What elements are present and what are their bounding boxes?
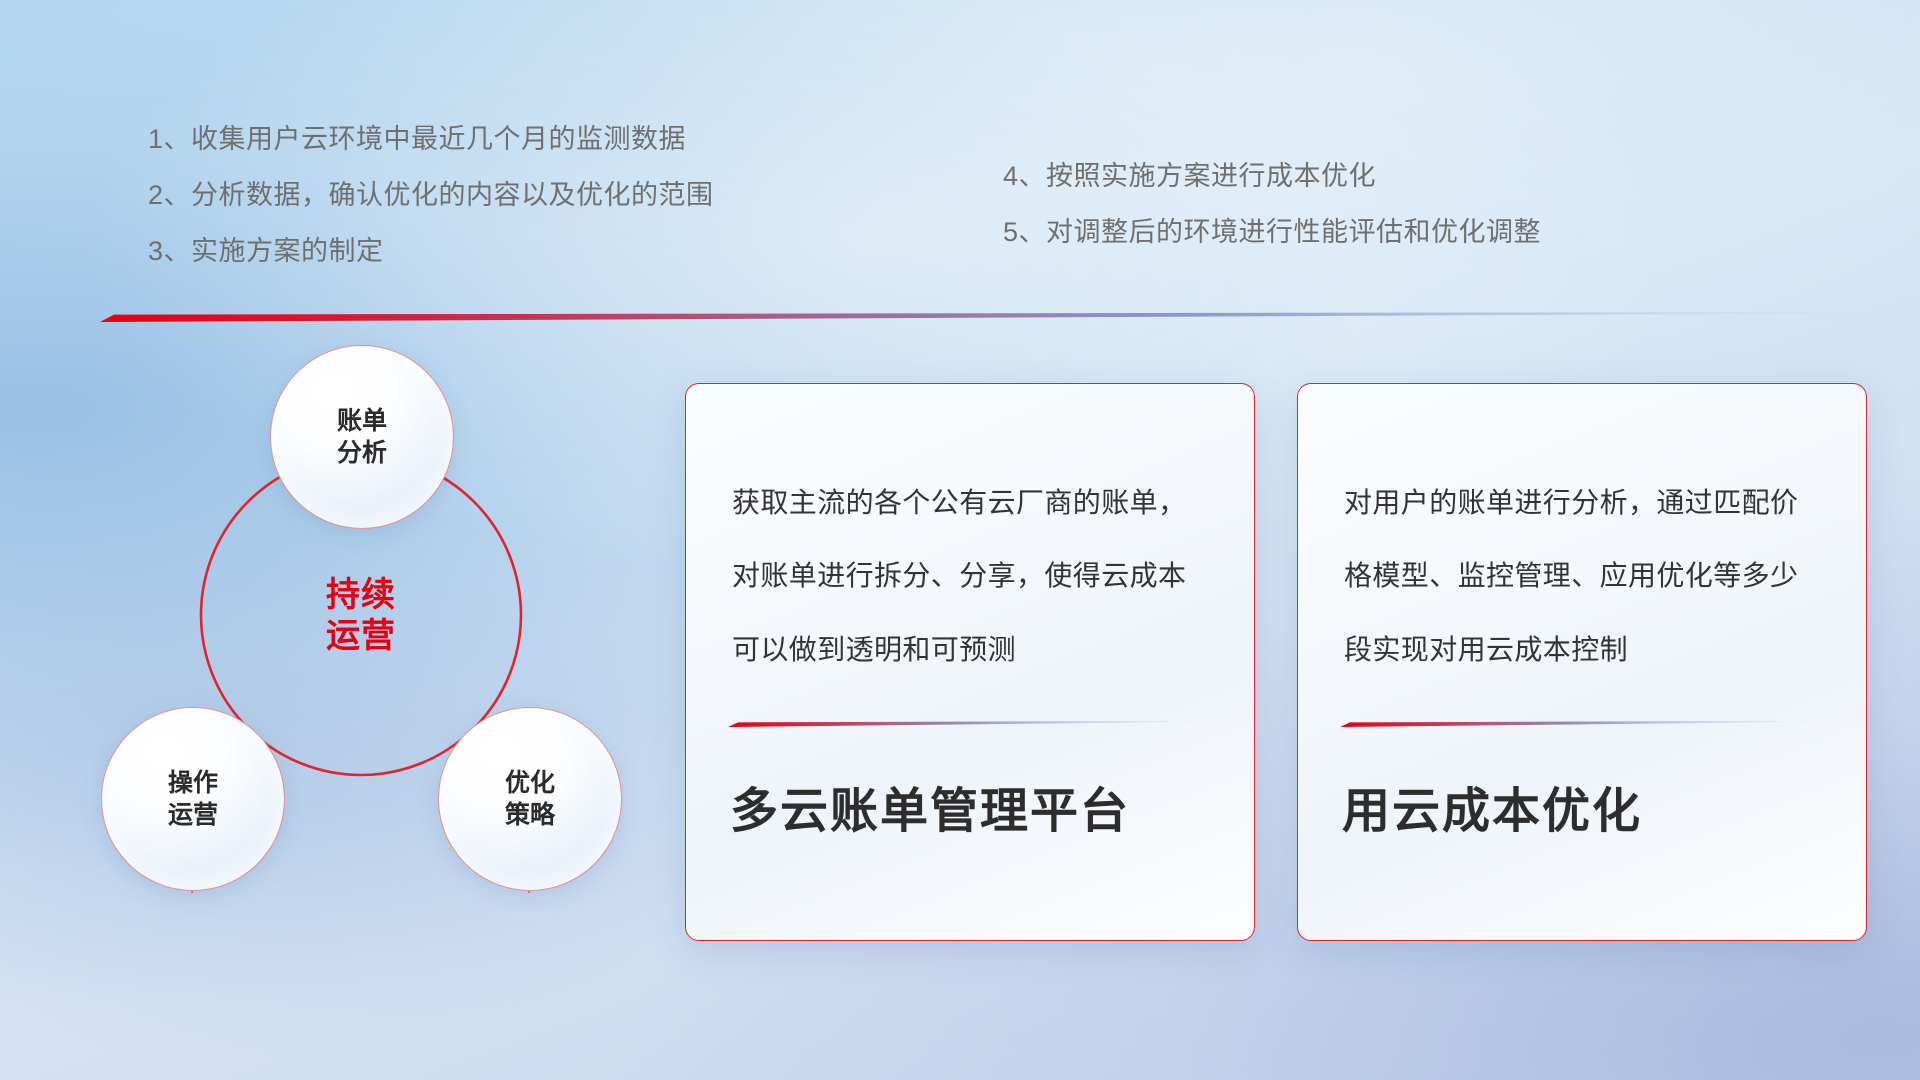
bubble-label-line2: 分析 (337, 439, 387, 467)
steps-list-right: 4、按照实施方案进行成本优化 5、对调整后的环境进行性能评估和优化调整 (1003, 163, 1541, 275)
bubble-label-line1: 操作 (168, 769, 218, 797)
card-divider-rule (728, 720, 1206, 728)
card-title: 多云账单管理平台 (730, 784, 1224, 839)
bubble-label: 账单 分析 (337, 405, 387, 469)
bubble-optimization-strategy[interactable]: 优化 策略 (438, 707, 622, 891)
step-item: 5、对调整后的环境进行性能评估和优化调整 (1003, 219, 1541, 246)
step-item: 3、实施方案的制定 (148, 238, 714, 265)
bubble-label-line2: 策略 (505, 801, 555, 829)
steps-list-left: 1、收集用户云环境中最近几个月的监测数据 2、分析数据，确认优化的内容以及优化的… (148, 126, 714, 294)
cycle-diagram: 账单 分析 操作 运营 优化 策略 持续 运营 (95, 345, 675, 945)
slide-canvas: 1、收集用户云环境中最近几个月的监测数据 2、分析数据，确认优化的内容以及优化的… (0, 0, 1920, 1080)
card-title: 用云成本优化 (1342, 784, 1836, 839)
bubble-label-line1: 账单 (337, 407, 387, 435)
card-divider-rule (1340, 720, 1818, 728)
bubble-label: 优化 策略 (505, 767, 555, 831)
bubble-billing-analysis[interactable]: 账单 分析 (270, 345, 454, 529)
feature-card-multicloud-billing[interactable]: 获取主流的各个公有云厂商的账单，对账单进行拆分、分享，使得云成本可以做到透明和可… (685, 383, 1255, 941)
bubble-label-line2: 运营 (168, 801, 218, 829)
cycle-center-label-line2: 运营 (326, 617, 396, 655)
card-body-text: 获取主流的各个公有云厂商的账单，对账单进行拆分、分享，使得云成本可以做到透明和可… (732, 466, 1214, 686)
bubble-label: 操作 运营 (168, 767, 218, 831)
bubble-label-line1: 优化 (505, 769, 555, 797)
bubble-operations[interactable]: 操作 运营 (101, 707, 285, 891)
card-body-text: 对用户的账单进行分析，通过匹配价格模型、监控管理、应用优化等多少段实现对用云成本… (1344, 466, 1826, 686)
cycle-center-label: 持续 运营 (266, 575, 456, 658)
cycle-center-label-line1: 持续 (326, 576, 396, 614)
section-divider-rule (100, 311, 1860, 323)
step-item: 4、按照实施方案进行成本优化 (1003, 163, 1541, 190)
step-item: 2、分析数据，确认优化的内容以及优化的范围 (148, 182, 714, 209)
step-item: 1、收集用户云环境中最近几个月的监测数据 (148, 126, 714, 153)
feature-card-cloud-cost-optimization[interactable]: 对用户的账单进行分析，通过匹配价格模型、监控管理、应用优化等多少段实现对用云成本… (1297, 383, 1867, 941)
